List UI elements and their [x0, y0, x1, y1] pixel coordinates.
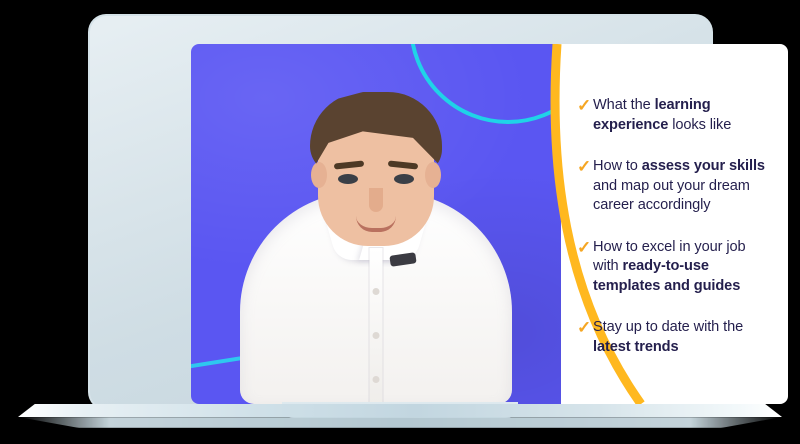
check-icon: ✓ [577, 96, 593, 115]
bullet-item: ✓How to excel in your job with ready-to-… [577, 238, 775, 297]
bullet-item: ✓What the learning experience looks like [577, 96, 775, 135]
bullet-text: How to excel in your job with ready-to-u… [593, 238, 775, 297]
bullet-item: ✓Stay up to date with the latest trends [577, 318, 775, 357]
bullet-text: How to assess your skills and map out yo… [593, 157, 775, 216]
bullet-item: ✓How to assess your skills and map out y… [577, 157, 775, 216]
laptop-lid: ✓What the learning experience looks like… [88, 14, 713, 410]
laptop-base-top [18, 404, 782, 417]
bullet-list: ✓What the learning experience looks like… [577, 96, 775, 357]
laptop-base [18, 404, 782, 434]
bullet-text: What the learning experience looks like [593, 96, 775, 135]
bullet-text: Stay up to date with the latest trends [593, 318, 775, 357]
laptop-base-shadow [18, 417, 782, 428]
check-icon: ✓ [577, 157, 593, 176]
screenshot-stage: ✓What the learning experience looks like… [0, 0, 800, 444]
laptop-screen[interactable]: ✓What the learning experience looks like… [191, 44, 788, 404]
check-icon: ✓ [577, 318, 593, 337]
check-icon: ✓ [577, 238, 593, 257]
